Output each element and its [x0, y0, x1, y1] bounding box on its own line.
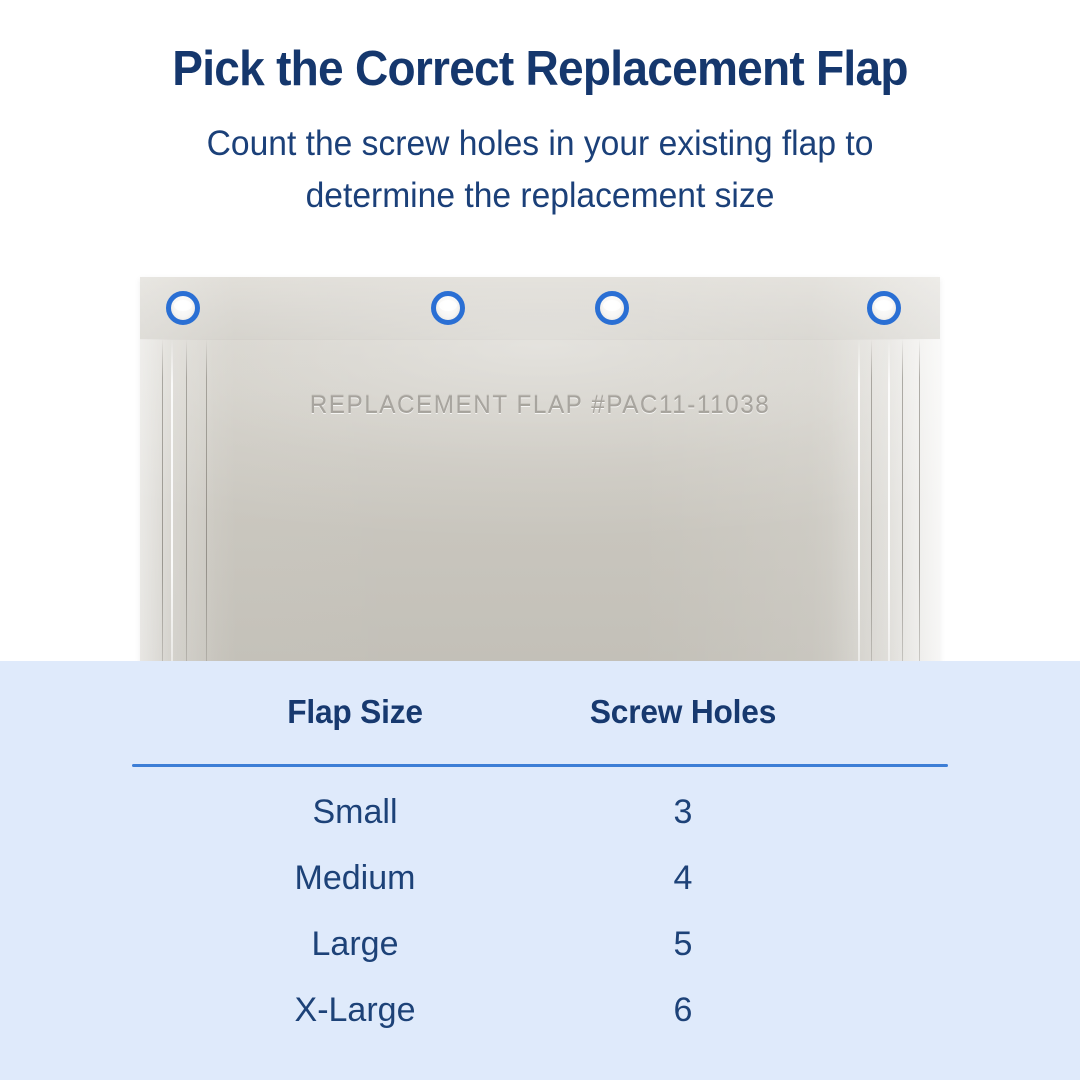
cell-flap-size: Small: [132, 779, 578, 845]
table-row: Medium 4: [0, 845, 1080, 911]
subtitle-line-1: Count the screw holes in your existing f…: [22, 118, 1059, 170]
table-header-row: Flap Size Screw Holes: [0, 693, 1080, 739]
table-row: Large 5: [0, 911, 1080, 977]
flap-crease-line: [888, 339, 890, 662]
subtitle-line-2: determine the replacement size: [22, 170, 1059, 222]
screw-hole-grommet-3: [595, 291, 629, 325]
pet-door-flap: REPLACEMENT FLAP #PAC11-11038: [140, 277, 940, 662]
flap-crease-line: [858, 339, 860, 662]
page-title: Pick the Correct Replacement Flap: [32, 45, 1047, 94]
flap-crease-line: [206, 339, 207, 662]
flap-crease-line: [902, 339, 903, 662]
flap-crease-line: [919, 339, 920, 662]
cell-screw-holes: 4: [578, 845, 788, 911]
page-subtitle: Count the screw holes in your existing f…: [22, 118, 1059, 222]
flap-crease-line: [162, 339, 163, 662]
flap-crease-line: [186, 339, 187, 662]
flap-crease-line: [171, 339, 173, 662]
table-row: Small 3: [0, 779, 1080, 845]
cell-screw-holes: 5: [578, 911, 788, 977]
header-block: Pick the Correct Replacement Flap Count …: [0, 0, 1080, 222]
column-header-screw-holes: Screw Holes: [582, 693, 784, 731]
cell-flap-size: Large: [132, 911, 578, 977]
screw-hole-grommet-2: [431, 291, 465, 325]
infographic-canvas: Pick the Correct Replacement Flap Count …: [0, 0, 1080, 1080]
cell-flap-size: Medium: [132, 845, 578, 911]
cell-flap-size: X-Large: [132, 977, 578, 1043]
table-row: X-Large 6: [0, 977, 1080, 1043]
column-header-flap-size: Flap Size: [141, 693, 569, 731]
table-body: Small 3 Medium 4 Large 5 X-Large 6: [0, 779, 1080, 1043]
cell-screw-holes: 3: [578, 779, 788, 845]
product-photo: REPLACEMENT FLAP #PAC11-11038: [0, 250, 1080, 662]
screw-hole-grommet-1: [166, 291, 200, 325]
flap-sheen: [140, 277, 940, 662]
size-chart-panel: Flap Size Screw Holes Small 3 Medium 4 L…: [0, 661, 1080, 1080]
screw-hole-grommet-4: [867, 291, 901, 325]
flap-crease-line: [871, 339, 872, 662]
header-divider: [132, 764, 948, 767]
flap-right-highlight: [830, 339, 940, 662]
cell-screw-holes: 6: [578, 977, 788, 1043]
embossed-part-number: REPLACEMENT FLAP #PAC11-11038: [152, 391, 928, 420]
